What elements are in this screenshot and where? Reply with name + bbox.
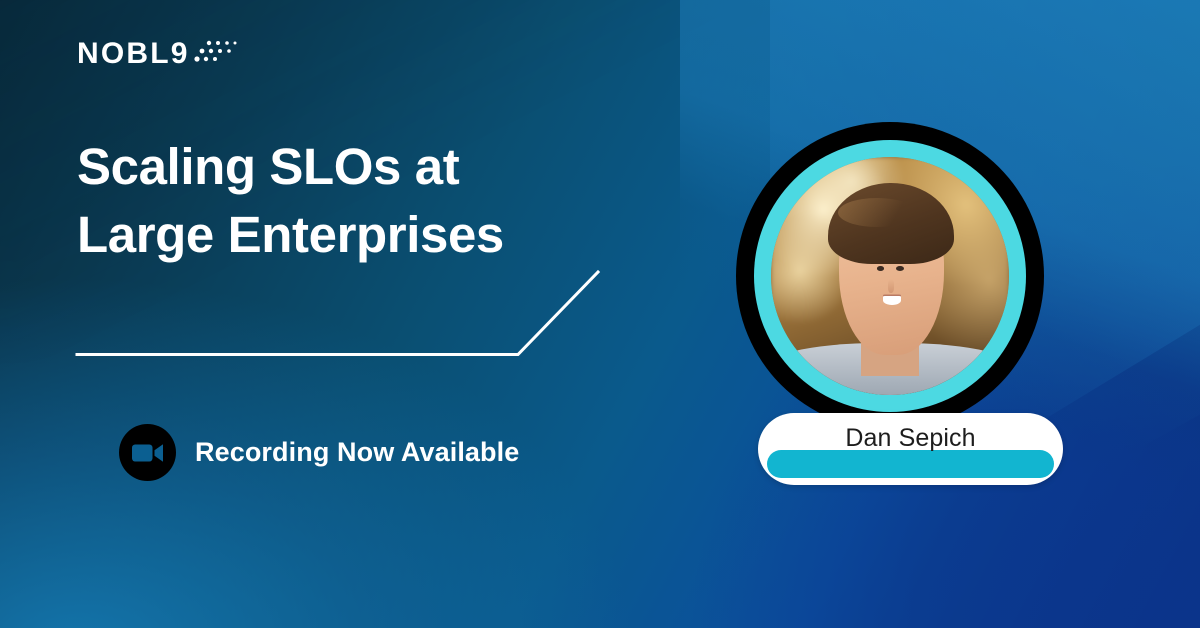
recording-status[interactable]: Recording Now Available: [119, 424, 519, 481]
photo-eye-left: [877, 266, 885, 271]
promo-canvas: NOBL9 Scaling SLOs at: [0, 0, 1200, 628]
badge-accent-bar: [767, 450, 1054, 478]
photo-smile: [883, 296, 901, 305]
recording-status-label: Recording Now Available: [195, 437, 519, 468]
status-badge: Dan Sepich: [758, 413, 1063, 485]
avatar: [736, 122, 1044, 430]
video-camera-icon: [119, 424, 176, 481]
photo-eye-right: [896, 266, 904, 271]
nobl9-logo[interactable]: NOBL9: [77, 38, 238, 69]
logo-wordmark: NOBL9: [77, 39, 190, 69]
photo-nose: [888, 279, 894, 292]
speaker-name: Dan Sepich: [758, 424, 1063, 453]
headline-line-2: Large Enterprises: [77, 201, 697, 269]
speaker-photo: [771, 157, 1009, 395]
page-title: Scaling SLOs at Large Enterprises: [77, 133, 697, 270]
dot-matrix-icon: [194, 38, 238, 69]
headline-line-1: Scaling SLOs at: [77, 133, 697, 201]
